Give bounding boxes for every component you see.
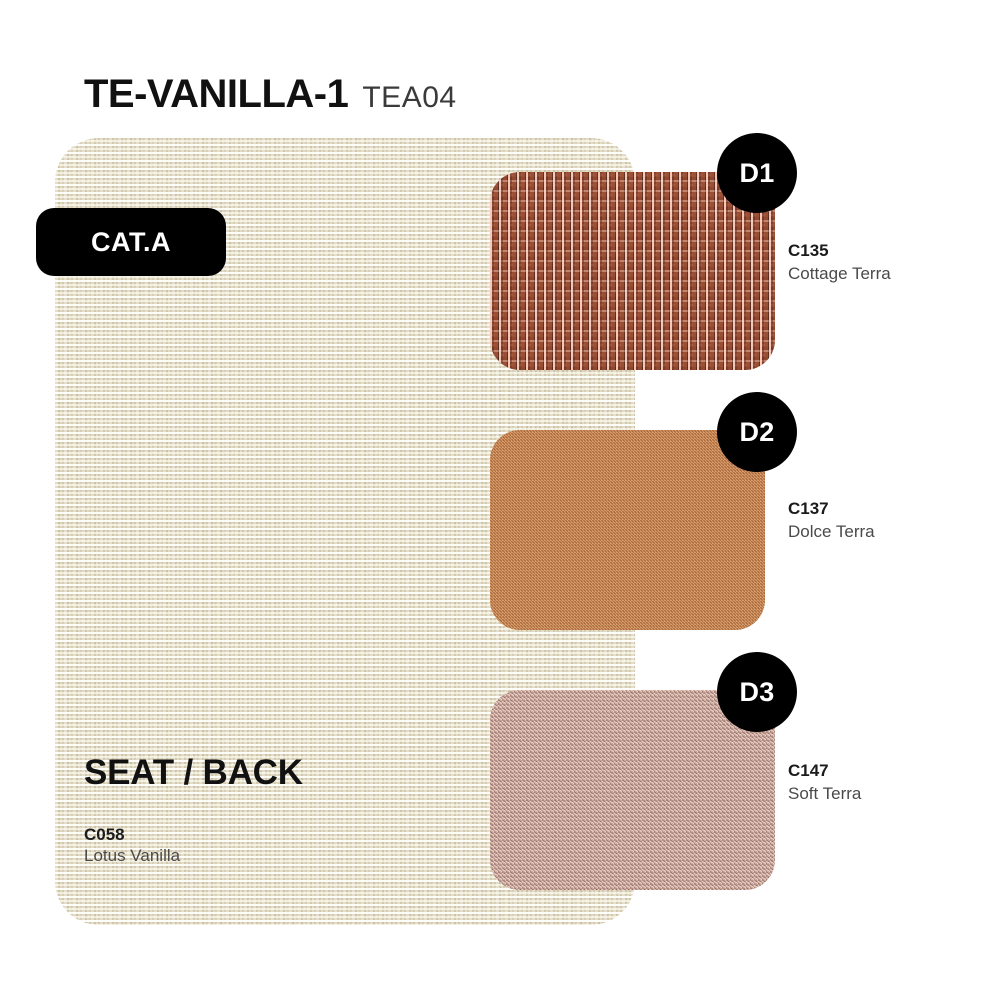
detail-label-d1: C135 Cottage Terra	[788, 240, 988, 286]
page-title: TE-VANILLA-1	[84, 74, 348, 114]
page-title-code: TEA04	[362, 83, 456, 113]
detail-code-d3: C147	[788, 760, 988, 782]
detail-code-d1: C135	[788, 240, 988, 262]
detail-color-name-d3: Soft Terra	[788, 782, 988, 806]
seat-back-info: SEAT / BACK C058 Lotus Vanilla	[84, 755, 303, 868]
detail-label-d2: C137 Dolce Terra	[788, 498, 988, 544]
page-header: TE-VANILLA-1 TEA04	[84, 74, 457, 114]
detail-fabric-swatch-d2[interactable]	[490, 430, 765, 630]
detail-marker-d2-label: D2	[739, 419, 774, 446]
seat-back-code: C058	[84, 824, 303, 845]
seat-back-title: SEAT / BACK	[84, 755, 303, 790]
detail-marker-d3-label: D3	[739, 679, 774, 706]
detail-code-d2: C137	[788, 498, 988, 520]
detail-marker-d2: D2	[717, 392, 797, 472]
detail-marker-d1: D1	[717, 133, 797, 213]
seat-back-color-name: Lotus Vanilla	[84, 845, 303, 868]
detail-marker-d3: D3	[717, 652, 797, 732]
detail-color-name-d2: Dolce Terra	[788, 520, 988, 544]
detail-color-name-d1: Cottage Terra	[788, 262, 988, 286]
category-badge-label: CAT.A	[91, 227, 171, 258]
detail-marker-d1-label: D1	[739, 160, 774, 187]
category-badge: CAT.A	[36, 208, 226, 276]
detail-label-d3: C147 Soft Terra	[788, 760, 988, 806]
